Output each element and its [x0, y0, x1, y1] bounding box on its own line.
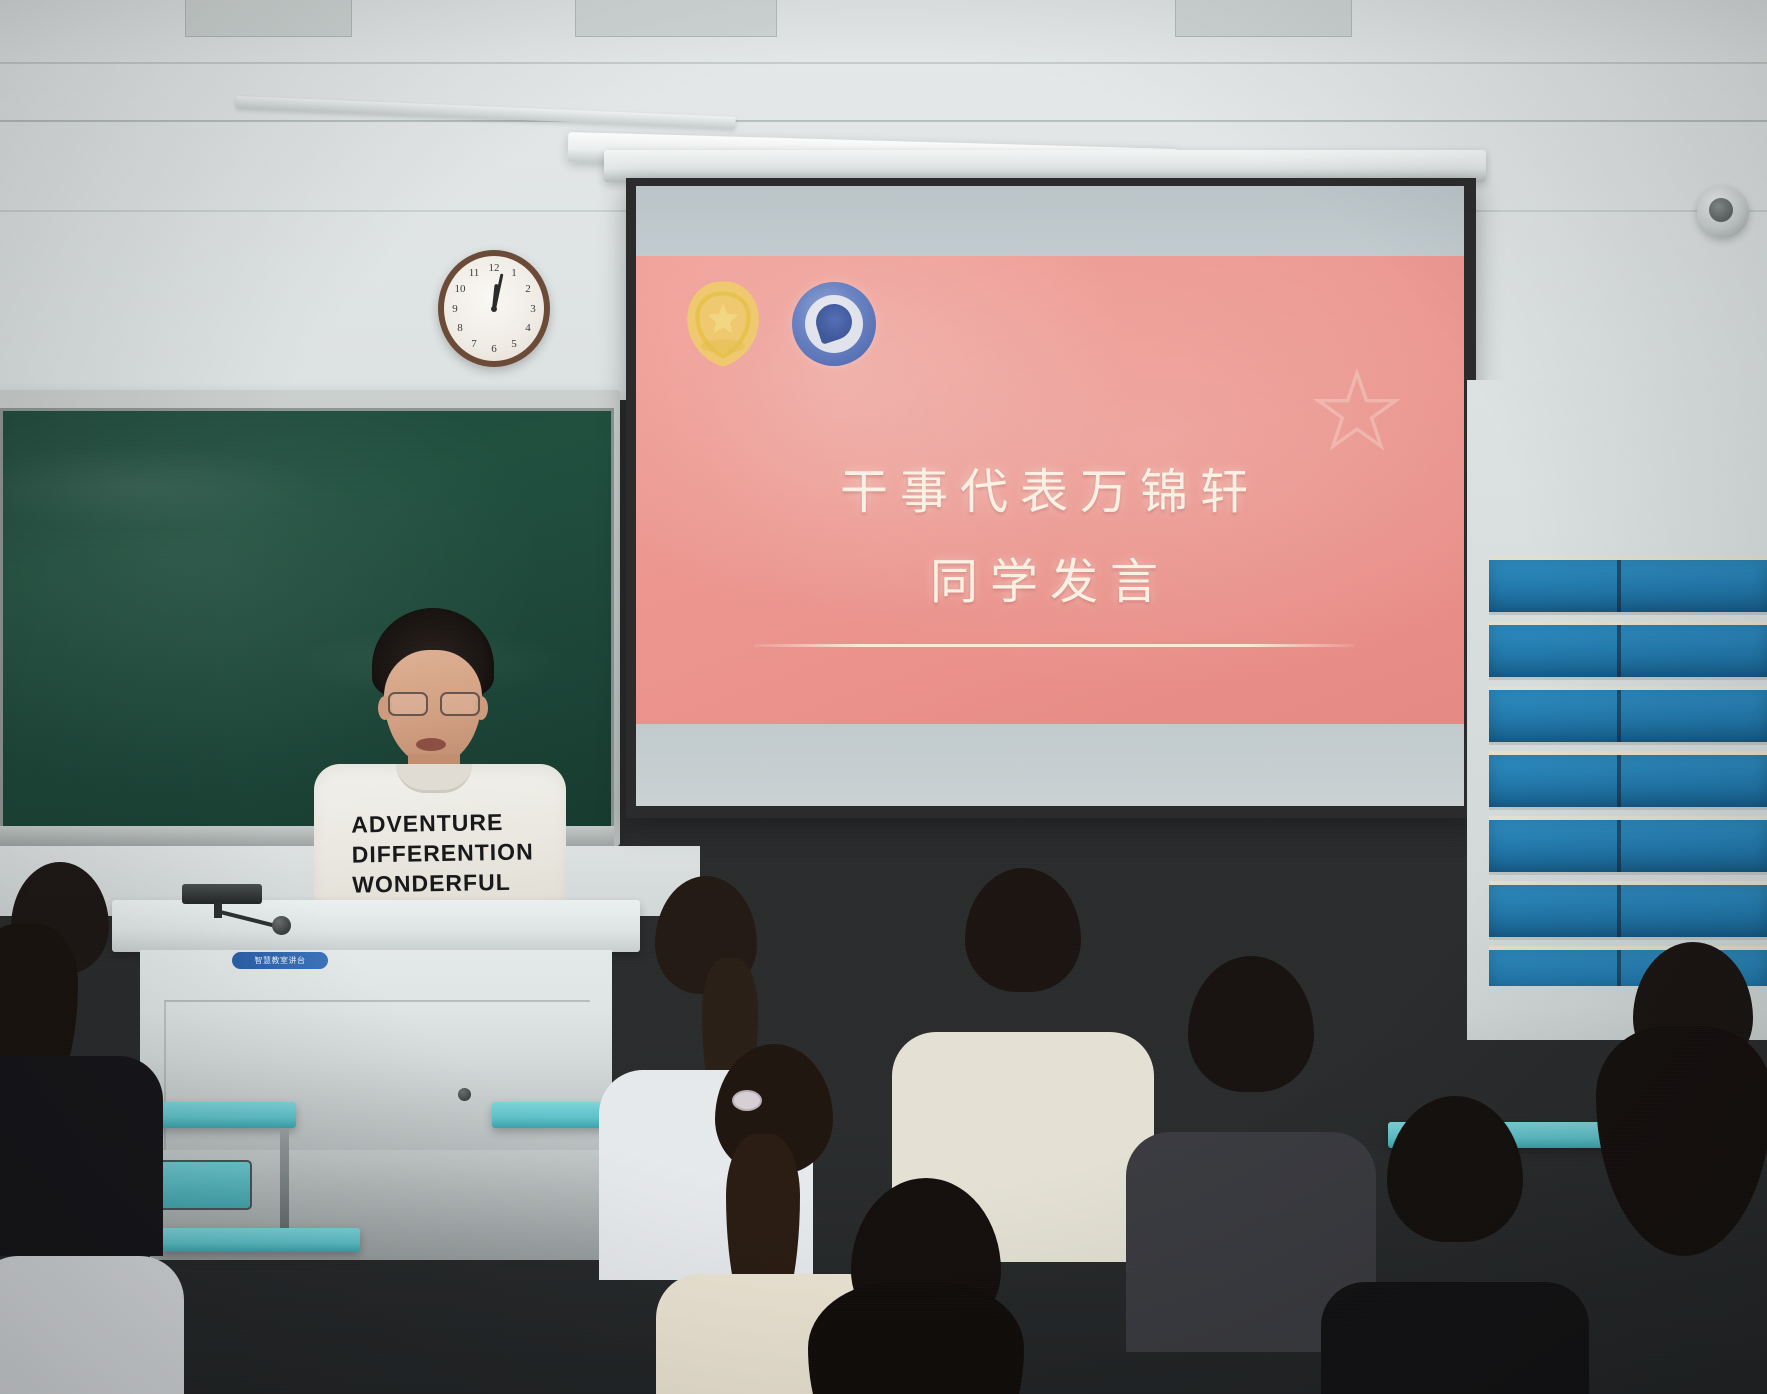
person-hair: [1596, 1026, 1767, 1256]
clock-numeral: 12: [489, 262, 500, 274]
audience-member-foreground: [0, 1226, 174, 1394]
clock-numeral: 1: [511, 267, 517, 279]
student-speaker: ADVENTURE DIFFERENTION WONDERFUL FORWARD: [300, 608, 580, 938]
clock-numeral: 3: [530, 303, 536, 315]
audience-member-4: [898, 864, 1148, 1194]
wall-clock: 12 1 2 3 4 5 6 7 8 9 10 11: [438, 250, 550, 367]
student-desk: [160, 1228, 360, 1252]
slide-divider-rule: [754, 644, 1354, 647]
slide-title-line-1: 干事代表万锦轩: [636, 452, 1464, 522]
blue-storage-shelves[interactable]: [1489, 556, 1767, 986]
audience-member-6: [1330, 1096, 1580, 1394]
five-pointed-star-icon: [1314, 368, 1400, 454]
person-head: [1188, 956, 1314, 1092]
lectern-top-surface: [112, 900, 640, 952]
microphone-head-icon[interactable]: [272, 916, 291, 935]
ceiling-vent-2: [575, 0, 777, 37]
clock-numeral: 11: [469, 267, 480, 279]
projected-slide: 干事代表万锦轩 同学发言: [636, 186, 1464, 806]
audience-area: [0, 1010, 1767, 1394]
tshirt-line: DIFFERENTION: [351, 836, 533, 869]
clock-numeral: 4: [525, 322, 531, 334]
slide-content-area: 干事代表万锦轩 同学发言: [636, 256, 1464, 724]
security-camera-dome-icon: [1697, 186, 1749, 238]
person-torso: [0, 1256, 184, 1394]
shelf-row: [1489, 556, 1767, 615]
clock-numeral: 5: [511, 338, 517, 350]
clock-numeral: 10: [455, 283, 466, 295]
audience-member-1: [0, 850, 150, 1180]
person-torso: [1321, 1282, 1589, 1394]
clock-numeral: 6: [491, 343, 497, 355]
communist-youth-league-emblem-icon: [680, 278, 766, 370]
classroom-scene: 12 1 2 3 4 5 6 7 8 9 10 11: [0, 0, 1767, 1394]
clock-numeral: 8: [457, 322, 463, 334]
slide-top-band: [636, 186, 1464, 256]
audience-member-8: [786, 1178, 1066, 1394]
slide-bottom-band: [636, 724, 1464, 806]
clock-numeral: 2: [525, 283, 531, 295]
ceiling-band: [0, 0, 1767, 64]
webcam-icon[interactable]: [182, 884, 262, 904]
shelf-row: [1489, 621, 1767, 680]
clock-center-pin: [491, 306, 497, 312]
speaker-glasses: [386, 692, 482, 714]
shelf-row: [1489, 816, 1767, 875]
person-hair: [808, 1282, 1024, 1394]
clock-numeral: 7: [471, 338, 477, 350]
person-head: [1387, 1096, 1523, 1242]
hair-scrunchie-icon: [732, 1090, 762, 1111]
clock-numeral: 9: [452, 303, 458, 315]
projection-screen: 干事代表万锦轩 同学发言: [626, 178, 1476, 818]
shelf-row: [1489, 751, 1767, 810]
tshirt-line: WONDERFUL: [352, 866, 534, 899]
shelf-row: [1489, 686, 1767, 745]
ceiling-vent-1: [185, 0, 352, 37]
audience-member-7: [1578, 934, 1767, 1264]
ceiling-vent-3: [1175, 0, 1352, 37]
wall-seam-upper: [0, 120, 1767, 122]
person-head: [965, 868, 1081, 992]
university-seal-icon: [792, 282, 876, 366]
slide-title-line-2: 同学发言: [636, 542, 1464, 612]
tshirt-line: ADVENTURE: [351, 806, 533, 839]
lectern-label: 智慧教室讲台: [232, 952, 328, 969]
shelf-row: [1489, 881, 1767, 940]
speaker-mouth: [416, 738, 446, 751]
